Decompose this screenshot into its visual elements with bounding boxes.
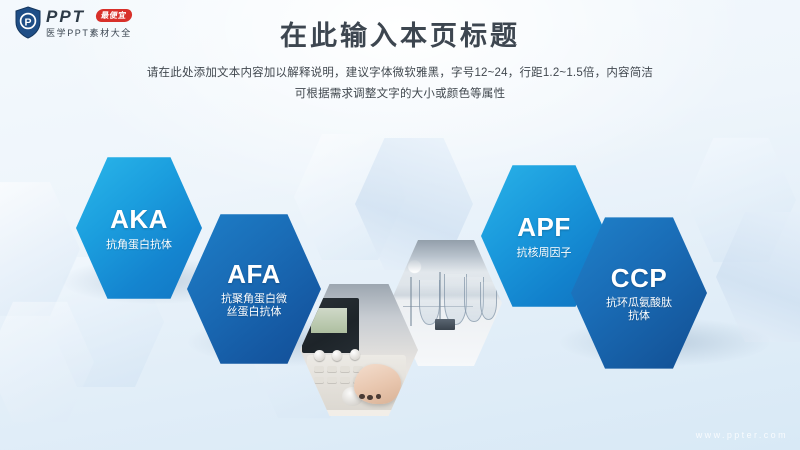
page-subtitle-line2: 可根据需求调整文字的大小或颜色等属性 — [60, 84, 740, 105]
hexagon-desc-ccp: 抗环瓜氨酸肽 抗体 — [606, 297, 672, 323]
hexagon-desc-aka: 抗角蛋白抗体 — [106, 239, 172, 252]
footer-watermark: www.ppter.com — [696, 430, 788, 440]
hexagon-desc-apf: 抗核周因子 — [517, 247, 572, 260]
hexagon-code-afa: AFA — [227, 259, 281, 290]
hexagon-code-aka: AKA — [110, 204, 168, 235]
page-subtitle-line1: 请在此处添加文本内容加以解释说明，建议字体微软雅黑，字号12~24，行距1.2~… — [60, 63, 740, 84]
hexagon-code-ccp: CCP — [611, 263, 667, 294]
page-subtitle: 请在此处添加文本内容加以解释说明，建议字体微软雅黑，字号12~24，行距1.2~… — [60, 63, 740, 106]
slide-canvas: AKA 抗角蛋白抗体 AFA 抗聚角蛋白微 丝蛋白抗体 APF 抗核周因子 CC… — [0, 0, 800, 450]
hexagon-desc-afa: 抗聚角蛋白微 丝蛋白抗体 — [221, 293, 287, 319]
hexagon-code-apf: APF — [517, 212, 571, 243]
page-title: 在此输入本页标题 — [0, 14, 800, 53]
